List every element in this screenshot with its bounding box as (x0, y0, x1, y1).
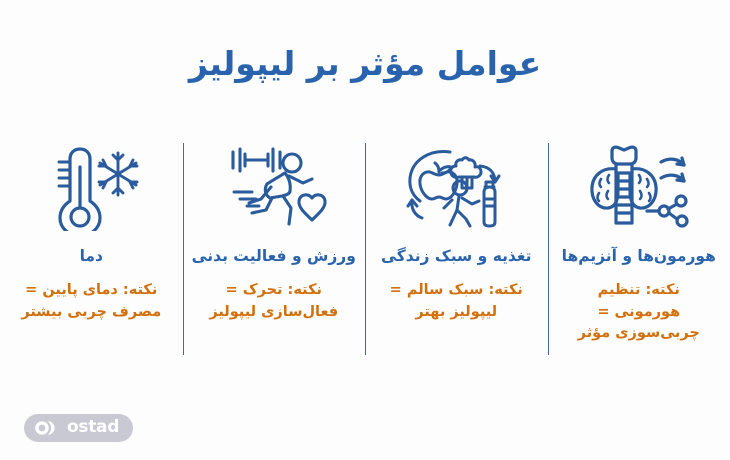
page-title: عوامل مؤثر بر لیپولیز (0, 44, 730, 84)
exercise-running-icon (214, 142, 334, 234)
thermometer-snowflake-icon (31, 142, 151, 234)
column-note: نکته: تنظیم هورمونی = چربی‌سوزی مؤثر (564, 280, 714, 345)
thyroid-gland-icon (579, 142, 699, 234)
column-note: نکته: سبک سالم = لیپولیز بهتر (381, 280, 531, 324)
column-exercise: ورزش و فعالیت بدنی نکته: تحرک = فعال‌ساز… (183, 140, 366, 360)
column-note: نکته: دمای پایین = مصرف چربی بیشتر (16, 280, 166, 324)
ostad-circles-mark (34, 420, 60, 436)
column-title: ورزش و فعالیت بدنی (192, 246, 356, 267)
column-title: هورمون‌ها و آنزیم‌ها (562, 246, 716, 267)
ostad-logo: ostad (24, 414, 133, 442)
column-nutrition-lifestyle: تغذیه و سبک زندگی نکته: سبک سالم = لیپول… (365, 140, 548, 360)
column-temperature: دما نکته: دمای پایین = مصرف چربی بیشتر (0, 140, 183, 360)
factor-columns: هورمون‌ها و آنزیم‌ها نکته: تنظیم هورمونی… (0, 140, 730, 360)
column-note: نکته: تحرک = فعال‌سازی لیپولیز (199, 280, 349, 324)
column-title: تغذیه و سبک زندگی (381, 246, 531, 267)
column-title: دما (80, 246, 103, 267)
infographic-page: عوامل مؤثر بر لیپولیز (0, 0, 730, 460)
column-hormones: هورمون‌ها و آنزیم‌ها نکته: تنظیم هورمونی… (548, 140, 730, 360)
logo-text: ostad (67, 419, 119, 438)
nutrition-lifestyle-icon (396, 142, 516, 234)
